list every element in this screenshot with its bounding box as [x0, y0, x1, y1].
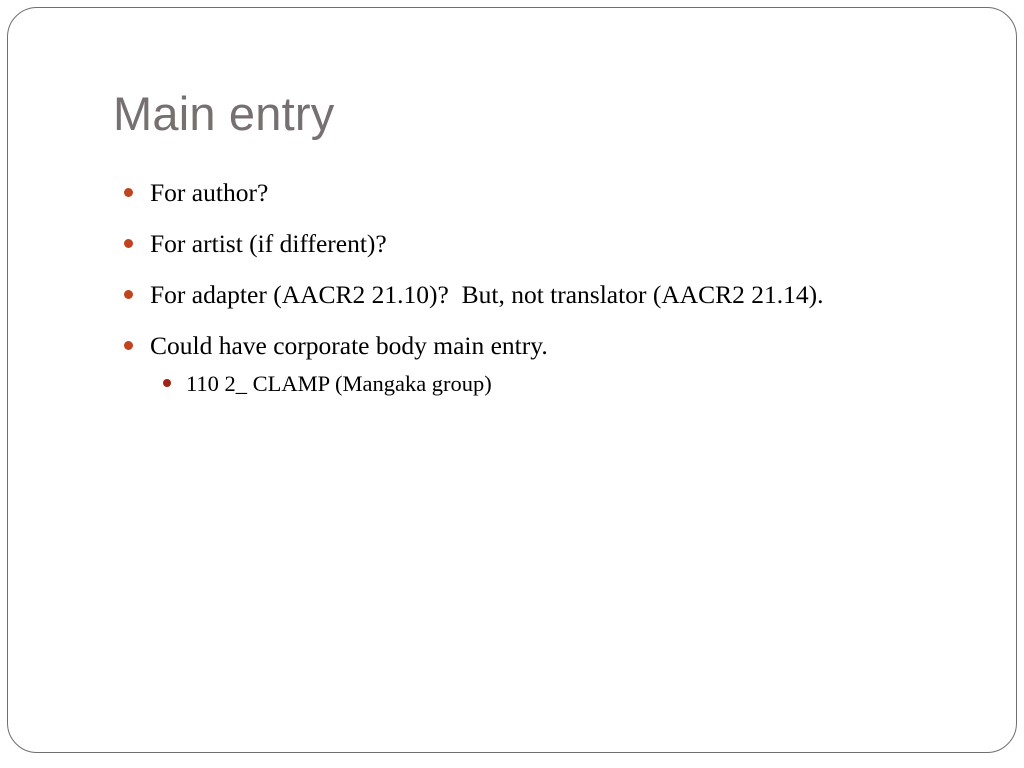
slide-title: Main entry [113, 86, 334, 142]
bullet-dot-icon [124, 341, 133, 350]
bullet-item-2: For artist (if different)? [120, 227, 950, 261]
bullet-text: For adapter (AACR2 21.10)? But, not tran… [150, 280, 824, 309]
bullet-dot-icon [124, 188, 133, 197]
bullet-dot-icon [124, 290, 133, 299]
bullet-text: For artist (if different)? [150, 229, 387, 258]
bullet-text: Could have corporate body main entry. [150, 331, 548, 360]
slide-body-bullet-list: For author? For artist (if different)? F… [120, 176, 950, 416]
bullet-text: For author? [150, 178, 268, 207]
bullet-item-3: For adapter (AACR2 21.10)? But, not tran… [120, 278, 950, 312]
sub-bullet-text: 110 2_ CLAMP (Mangaka group) [186, 371, 492, 396]
bullet-item-4: Could have corporate body main entry. 11… [120, 329, 950, 399]
sub-bullet-list: 110 2_ CLAMP (Mangaka group) [150, 369, 950, 399]
sub-bullet-dot-icon [163, 379, 171, 387]
bullet-item-1: For author? [120, 176, 950, 210]
bullet-dot-icon [124, 239, 133, 248]
sub-bullet-item-1: 110 2_ CLAMP (Mangaka group) [158, 369, 950, 399]
slide-canvas: Main entry For author? For artist (if di… [7, 7, 1017, 753]
